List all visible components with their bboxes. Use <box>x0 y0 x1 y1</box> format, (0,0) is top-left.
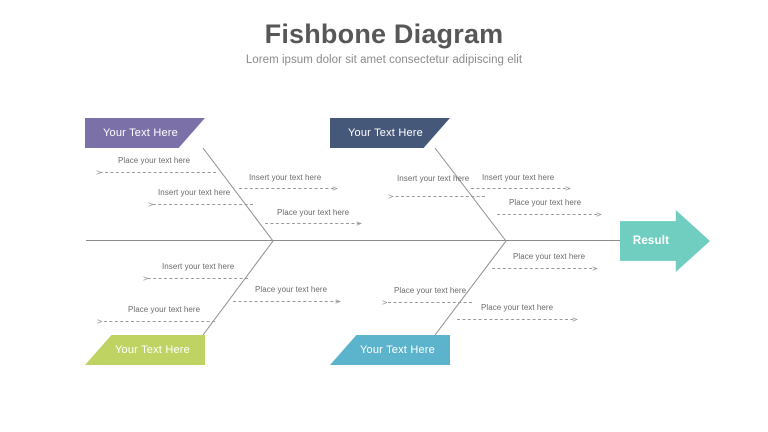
fishbone-diagram: Your Text Here Your Text Here Your Text … <box>0 0 768 432</box>
fishbone-diagram-slide: Fishbone Diagram Lorem ipsum dolor sit a… <box>0 0 768 432</box>
category-label-top-right: Your Text Here <box>330 127 423 139</box>
cause-label-bottom-left-3: Place your text here <box>128 305 200 314</box>
cause-label-top-right-3: Place your text here <box>509 198 581 207</box>
cause-label-top-left-3: Insert your text here <box>158 188 230 197</box>
cause-label-bottom-left-1: Insert your text here <box>162 262 234 271</box>
category-label-top-left: Your Text Here <box>85 127 178 139</box>
category-label-bottom-right: Your Text Here <box>330 344 435 356</box>
result-label: Result <box>620 210 682 272</box>
cause-label-bottom-right-1: Place your text here <box>513 252 585 261</box>
category-label-bottom-left: Your Text Here <box>85 344 190 356</box>
cause-label-bottom-right-2: Place your text here <box>394 286 466 295</box>
cause-label-top-left-1: Place your text here <box>118 156 190 165</box>
cause-label-top-left-2: Insert your text here <box>249 173 321 182</box>
result-arrow[interactable]: Result <box>620 210 710 272</box>
category-banner-top-left[interactable]: Your Text Here <box>85 118 205 148</box>
cause-label-bottom-right-3: Place your text here <box>481 303 553 312</box>
category-banner-top-right[interactable]: Your Text Here <box>330 118 450 148</box>
cause-label-top-right-1: Insert your text here <box>482 173 554 182</box>
category-banner-bottom-left[interactable]: Your Text Here <box>85 335 205 365</box>
cause-label-top-right-2: Insert your text here <box>397 174 469 183</box>
cause-label-top-left-4: Place your text here <box>277 208 349 217</box>
bone-top-right <box>435 148 506 241</box>
category-banner-bottom-right[interactable]: Your Text Here <box>330 335 450 365</box>
cause-label-bottom-left-2: Place your text here <box>255 285 327 294</box>
